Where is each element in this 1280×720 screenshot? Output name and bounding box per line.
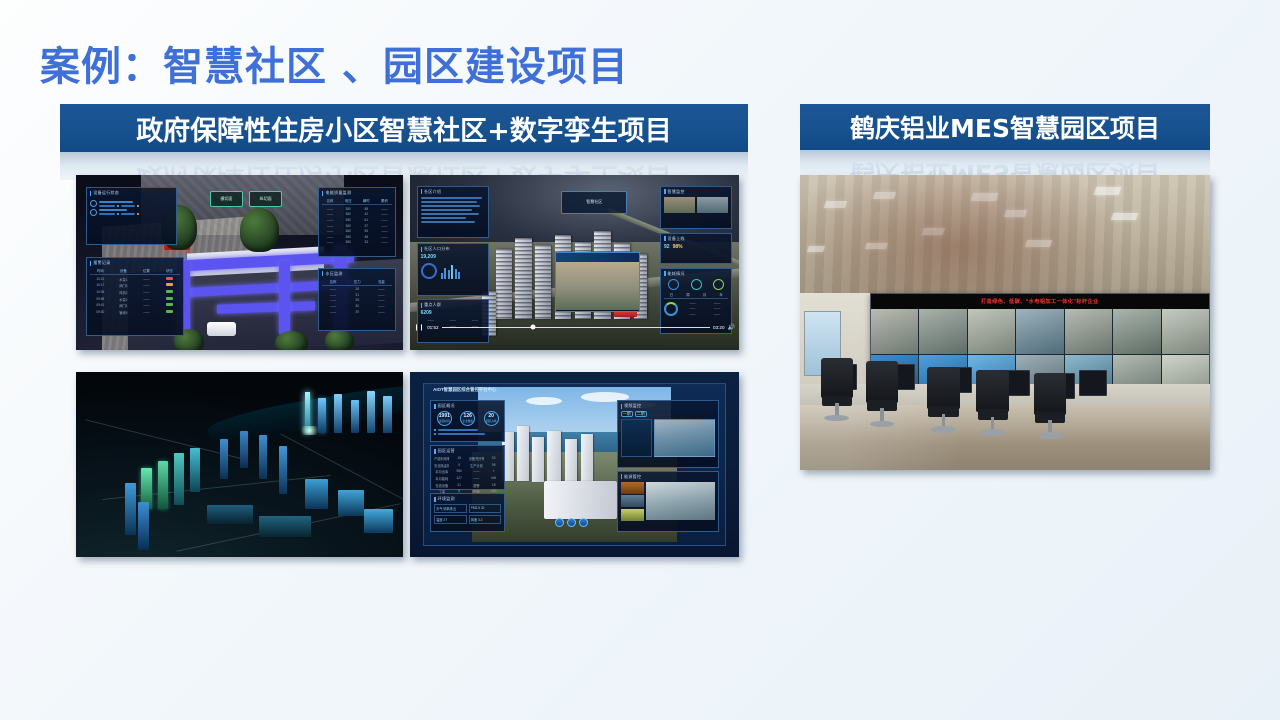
- park-panel-environment-title: 环境监测: [438, 496, 455, 502]
- city-night-building: [190, 448, 200, 492]
- right-panel-heading-reflection-text: 鹤庆铝业MES智慧园区项目: [800, 150, 1210, 178]
- twin-panel-alarm-list: 报警记录 时间设备位置状态 10:21水泵1—— 10:17阀门3—— 10:0…: [86, 257, 184, 336]
- park-stat-companies: 126 企业数量: [460, 411, 475, 426]
- community-panel-district-profile-title: 社区介绍: [424, 189, 441, 195]
- park-stat-area: 20 园区占地: [484, 411, 499, 426]
- park-panel-environment: 环境监测 天气 晴转多云 PM2.5 32 温度 27 风速 3.2: [430, 493, 505, 532]
- city-night-building: [259, 435, 267, 479]
- video-progress-knob[interactable]: [530, 325, 535, 330]
- left-panel-heading: 政府保障性住房小区智慧社区+数字孪生项目: [60, 104, 748, 152]
- community-video-popup[interactable]: [555, 252, 641, 312]
- volume-icon[interactable]: 🔊: [728, 324, 735, 331]
- ceiling-light: [865, 243, 887, 249]
- community-panel-alarm-monitor: 智慧监控: [660, 186, 732, 230]
- energy-icon[interactable]: [579, 518, 588, 527]
- park-env-pm25-value: 32: [481, 506, 485, 510]
- video-wall-tile[interactable]: [1162, 309, 1209, 354]
- community-device-online-rate: 98%: [673, 244, 683, 250]
- community-panel-district-profile: 社区介绍: [417, 186, 489, 239]
- park-panel-video-surveillance-title: 能源管控: [624, 474, 641, 480]
- park-cctv-main-view[interactable]: [646, 482, 715, 521]
- ceiling-light: [971, 193, 998, 201]
- park-panel-operations: 园区运营 产能利用率15设备完好率92 安全隐患排查0生产计划95 本月出库98…: [430, 445, 505, 490]
- city-night-block: [259, 516, 311, 536]
- park-tower: [517, 426, 529, 481]
- city-night-building: [351, 400, 360, 433]
- office-chair: [927, 367, 960, 435]
- photo-mes-control-room: 打造绿色、低碳、“水电铝加工一体化”标杆企业: [800, 175, 1210, 470]
- twin-panel-power-quality-title: 电能质量监测: [325, 190, 351, 196]
- video-progress-track[interactable]: [442, 327, 710, 328]
- video-wall-tile[interactable]: [919, 309, 966, 354]
- park-screen-frame: AIOT智慧园区综合管控平台中心 园区概况 1991 建园时间 126 企业数量…: [423, 383, 726, 546]
- office-chair: [1034, 373, 1067, 441]
- office-chair: [976, 370, 1009, 438]
- twin-panel-power-quality: 电能质量监测 名称电压瞬时累积 ——38058—— ——38042—— ——38…: [318, 187, 396, 257]
- park-panel-production-monitor-title: 视频监控: [624, 403, 641, 409]
- city-night-building: [220, 439, 229, 480]
- city-night-building: [334, 394, 342, 433]
- park-panel-production-monitor: 视频监控 一期 二期: [617, 400, 719, 468]
- video-elapsed-time: 01:52: [427, 325, 439, 330]
- city-night-tower-glow: [298, 426, 321, 435]
- park-env-wind-value: 3.2: [478, 518, 482, 522]
- twin-panel-equipment-status: 设备运行状态: [86, 187, 178, 245]
- park-tower: [581, 434, 593, 487]
- community-video-popup-header: [556, 253, 640, 262]
- video-wall-tile[interactable]: [1113, 309, 1160, 354]
- city-night-building: [305, 479, 328, 509]
- twin-panel-water-pressure-title: 水压监测: [325, 271, 342, 277]
- building-icon[interactable]: [567, 518, 576, 527]
- video-remaining-time: 03:20: [713, 325, 725, 330]
- community-device-online-value: 92: [664, 244, 670, 250]
- twin-tree: [240, 208, 279, 252]
- twin-tree: [325, 329, 354, 350]
- city-night-building: [383, 396, 392, 433]
- operator-monitor[interactable]: [1079, 370, 1108, 397]
- city-night-building: [240, 431, 249, 468]
- ceiling-light: [807, 246, 825, 252]
- park-cctv-thumb[interactable]: [621, 495, 644, 507]
- park-panel-operations-title: 园区运营: [438, 448, 455, 454]
- screenshot-digital-twin-pipeline: 横切面 纵切面 设备运行状态: [76, 175, 403, 350]
- office-chair: [821, 358, 854, 423]
- community-panel-population-title: 社区人口分布: [424, 246, 450, 252]
- twin-panel-alarm-list-title: 报警记录: [93, 260, 110, 266]
- ceiling-light: [1094, 187, 1121, 195]
- community-panel-alarm-monitor-title: 智慧监控: [668, 189, 685, 195]
- led-ticker: 打造绿色、低碳、“水电铝加工一体化”标杆企业: [871, 294, 1209, 309]
- video-wall-tile[interactable]: [1016, 309, 1063, 354]
- park-action-dock[interactable]: [532, 513, 610, 532]
- community-focus-total: 6209: [421, 310, 485, 316]
- park-env-wind-label: 风速: [471, 518, 477, 522]
- ceiling-light: [1004, 210, 1027, 217]
- community-panel-device-online-title: 设备上线: [668, 236, 685, 242]
- park-env-weather-value: 晴转多云: [443, 507, 456, 511]
- community-video-popup-feed: [556, 262, 640, 310]
- community-panel-device-online: 设备上线 92 98%: [660, 233, 732, 265]
- city-night-block: [207, 505, 253, 524]
- city-night-building: [174, 453, 184, 505]
- city-night-building: [138, 502, 148, 550]
- twin-button-cross-section-v[interactable]: 纵切面: [249, 191, 282, 207]
- park-stat-founded-label: 建园时间: [439, 419, 449, 423]
- park-panel-overview-title: 园区概况: [438, 403, 455, 409]
- twin-vehicle: [207, 322, 236, 336]
- community-population-value: 19,209: [421, 254, 485, 260]
- right-panel-heading: 鹤庆铝业MES智慧园区项目: [800, 104, 1210, 150]
- community-logo-badge: 智慧社区: [561, 191, 627, 214]
- video-wall-tile[interactable]: [968, 309, 1015, 354]
- park-panel-video-surveillance: 能源管控: [617, 471, 719, 532]
- screenshot-city-digital-twin-night: [76, 372, 403, 557]
- park-stat-area-label: 园区占地: [486, 419, 496, 423]
- community-panel-energy-title: 能耗情况: [668, 271, 685, 277]
- park-tower: [547, 431, 561, 489]
- city-night-building: [364, 509, 393, 533]
- park-stat-companies-label: 企业数量: [463, 419, 473, 423]
- twin-pipe-vertical-2: [279, 261, 290, 335]
- right-panel-heading-reflection: 鹤庆铝业MES智慧园区项目: [800, 150, 1210, 178]
- twin-panel-water-pressure: 水压监测 名称压力流量 ——28—— ——31—— ——26—— ——30—— …: [318, 268, 396, 331]
- community-panel-population: 社区人口分布 19,209: [417, 243, 489, 296]
- community-video-player-controls[interactable]: ❙❙ 01:52 03:20 🔊: [410, 317, 739, 338]
- right-panel-header-group: 鹤庆铝业MES智慧园区项目 鹤庆铝业MES智慧园区项目: [800, 104, 1210, 178]
- park-env-pm25-label: PM2.5: [471, 506, 480, 510]
- home-icon[interactable]: [555, 518, 564, 527]
- community-cctv-thumb[interactable]: [697, 197, 728, 213]
- park-cctv-thumb[interactable]: [621, 509, 644, 521]
- screenshot-smart-community-dashboard: 智慧社区 社区介绍 社区人口分布 19,209: [410, 175, 739, 350]
- park-env-temp-label: 温度: [436, 518, 442, 522]
- ceiling-light: [823, 201, 846, 208]
- video-wall-tile[interactable]: [871, 309, 918, 354]
- community-tower: [496, 249, 512, 319]
- left-panel-header-group: 政府保障性住房小区智慧社区+数字孪生项目 政府保障性住房小区智慧社区+数字孪生项…: [60, 104, 748, 180]
- park-3d-model-view[interactable]: [654, 419, 715, 457]
- page-title: 案例：智慧社区 、园区建设项目: [40, 34, 629, 92]
- community-tower: [535, 245, 551, 319]
- pause-icon[interactable]: ❙❙: [414, 324, 424, 331]
- control-room-ceiling: [800, 175, 1210, 293]
- park-thumb-feed[interactable]: [621, 419, 652, 457]
- city-night-building: [125, 483, 136, 535]
- park-dashboard-title: AIOT智慧园区综合管控平台中心: [433, 387, 496, 393]
- community-tower: [515, 238, 531, 319]
- city-night-building: [158, 461, 168, 509]
- office-chair: [866, 361, 899, 429]
- park-env-weather-label: 天气: [436, 507, 442, 511]
- twin-panel-equipment-status-title: 设备运行状态: [93, 190, 119, 196]
- park-panel-overview: 园区概况 1991 建园时间 126 企业数量 20 园区占地: [430, 400, 505, 442]
- park-cctv-thumb[interactable]: [621, 482, 644, 494]
- park-tower: [532, 437, 544, 482]
- city-night-building: [367, 391, 375, 434]
- ceiling-light: [1110, 213, 1137, 220]
- city-night-building: [279, 446, 288, 494]
- park-env-temp-value: 27: [443, 518, 447, 522]
- community-cctv-thumb[interactable]: [664, 197, 695, 213]
- twin-tree: [275, 331, 308, 350]
- twin-button-cross-section-h[interactable]: 横切面: [210, 191, 243, 207]
- park-stat-founded: 1991 建园时间: [437, 411, 452, 426]
- ceiling-light: [1024, 240, 1051, 247]
- ceiling-light: [873, 192, 896, 199]
- video-wall-tile[interactable]: [1065, 309, 1112, 354]
- city-night-building: [338, 490, 364, 516]
- screenshot-smart-park-dashboard: AIOT智慧园区综合管控平台中心 园区概况 1991 建园时间 126 企业数量…: [410, 372, 739, 557]
- ceiling-light: [922, 228, 945, 235]
- community-panel-focus-people-title: 重点人群: [424, 302, 441, 308]
- park-tower: [565, 439, 577, 487]
